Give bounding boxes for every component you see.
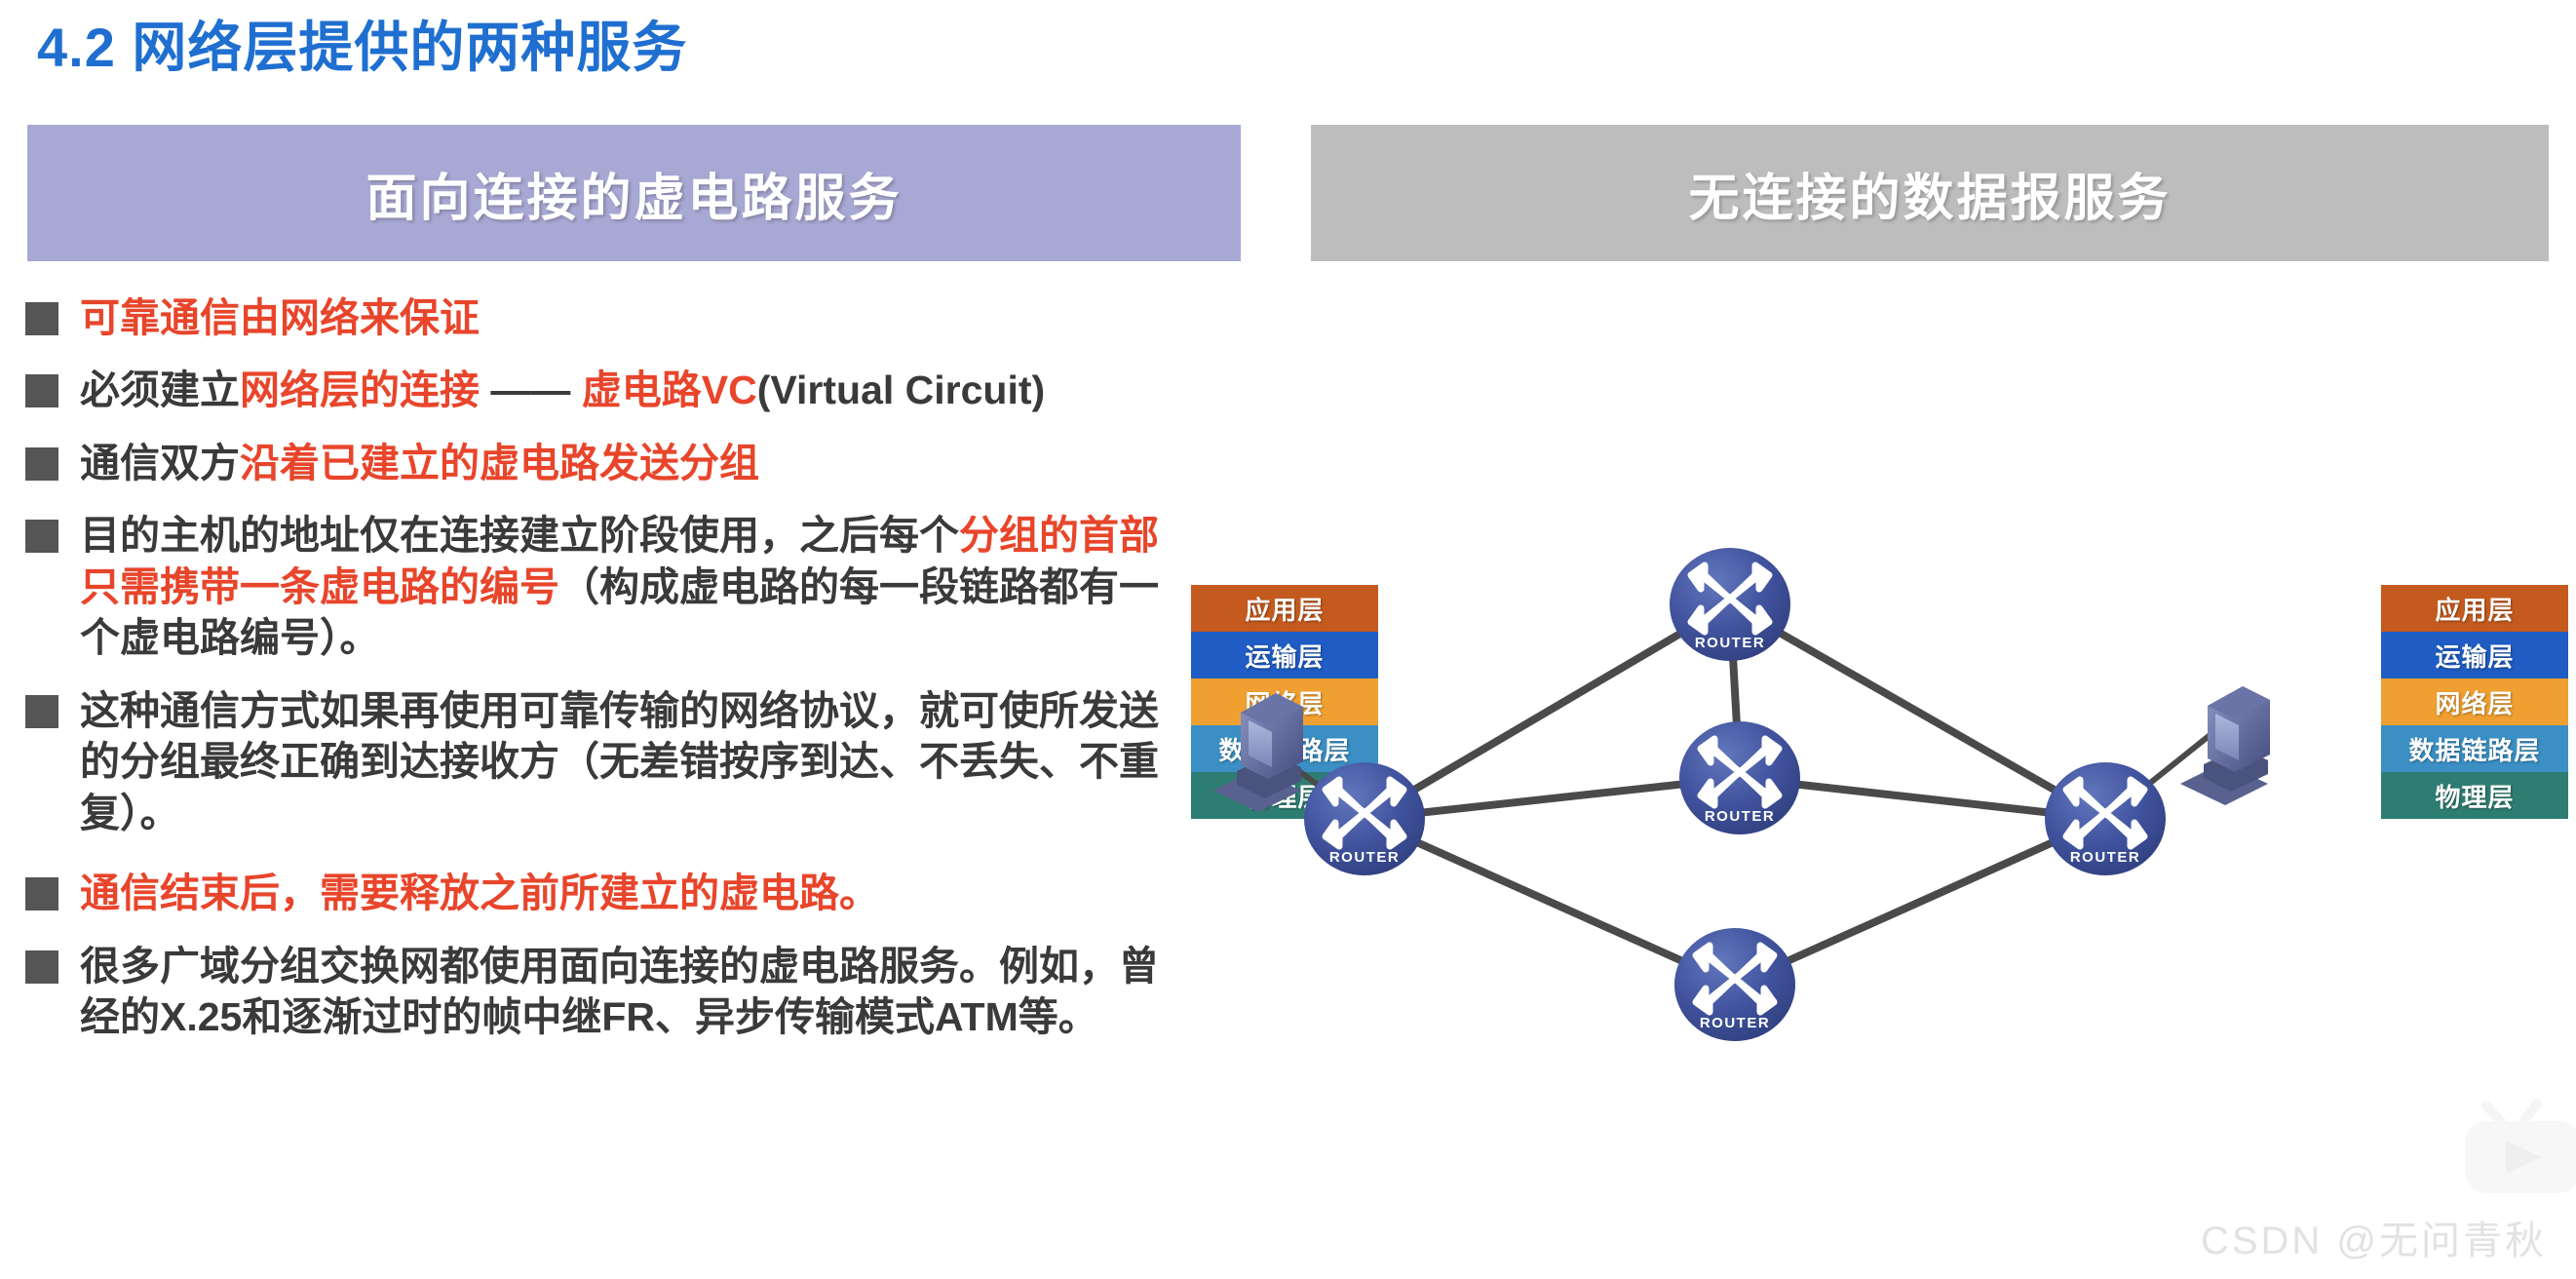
bullet-segment: 网络层的连接 xyxy=(240,368,480,412)
bullet-segment: 这种通信方式如果再使用可靠传输的网络协议，就可使所发送的分组最终正确到达接收方（… xyxy=(80,688,1159,835)
bullet-text: 必须建立网络层的连接 —— 虚电路VC(Virtual Circuit) xyxy=(80,365,1195,415)
host-computer-icon xyxy=(1213,693,1303,812)
page-title: 4.2 网络层提供的两种服务 xyxy=(37,4,687,83)
bullet-item-release-vc-after: 通信结束后，需要释放之前所建立的虚电路。 xyxy=(25,868,1195,918)
bullet-segment: 虚电路VC xyxy=(582,368,757,412)
bullet-item-send-along-vc: 通信双方沿着已建立的虚电路发送分组 xyxy=(25,438,1195,488)
bullet-text: 很多广域分组交换网都使用面向连接的虚电路服务。例如，曾经的X.25和逐渐过时的帧… xyxy=(80,941,1195,1043)
bullet-square-icon xyxy=(25,374,58,407)
router-node: ROUTER xyxy=(1304,762,1425,875)
network-topology-diagram: ROUTERROUTERROUTERROUTERROUTER xyxy=(1184,526,2568,1043)
bullet-item-wan-examples: 很多广域分组交换网都使用面向连接的虚电路服务。例如，曾经的X.25和逐渐过时的帧… xyxy=(25,941,1195,1043)
bullet-segment: 可靠通信由网络来保证 xyxy=(80,295,480,340)
bullet-item-address-only-at-setup: 目的主机的地址仅在连接建立阶段使用，之后每个分组的首部只需携带一条虚电路的编号（… xyxy=(25,510,1195,663)
router-label: ROUTER xyxy=(2070,849,2140,866)
bullet-item-reliable-comm: 可靠通信由网络来保证 xyxy=(25,292,1195,343)
router-label: ROUTER xyxy=(1705,808,1775,825)
router-label: ROUTER xyxy=(1329,849,1400,866)
router-node: ROUTER xyxy=(1670,548,1790,661)
csdn-watermark: CSDN @无问青秋 xyxy=(2201,1209,2547,1265)
bullet-segment: 通信结束后，需要释放之前所建立的虚电路。 xyxy=(80,871,879,915)
tv-play-icon xyxy=(2436,1088,2576,1205)
bullet-segment: 通信双方 xyxy=(80,441,240,485)
bullet-list: 可靠通信由网络来保证必须建立网络层的连接 —— 虚电路VC(Virtual Ci… xyxy=(25,292,1195,1072)
bullet-text: 目的主机的地址仅在连接建立阶段使用，之后每个分组的首部只需携带一条虚电路的编号（… xyxy=(80,510,1195,663)
bullet-segment: 必须建立 xyxy=(80,368,240,412)
router-label: ROUTER xyxy=(1695,635,1765,651)
bullet-text: 通信结束后，需要释放之前所建立的虚电路。 xyxy=(80,868,1195,918)
bullet-item-must-establish-vc: 必须建立网络层的连接 —— 虚电路VC(Virtual Circuit) xyxy=(25,365,1195,415)
topology-routers: ROUTERROUTERROUTERROUTERROUTER xyxy=(1304,548,2166,1041)
router-node: ROUTER xyxy=(2045,762,2166,875)
topology-link-7 xyxy=(1735,819,2105,985)
bullet-square-icon xyxy=(25,877,58,911)
topology-link-3 xyxy=(1365,819,1735,985)
router-node: ROUTER xyxy=(1679,721,1800,834)
section-banner-left-label: 面向连接的虚电路服务 xyxy=(365,157,902,230)
router-node: ROUTER xyxy=(1674,928,1795,1041)
bullet-text: 可靠通信由网络来保证 xyxy=(80,292,1195,343)
router-label: ROUTER xyxy=(1700,1015,1770,1031)
bullet-square-icon xyxy=(25,695,58,728)
section-banner-right-label: 无连接的数据报服务 xyxy=(1688,157,2171,230)
bullet-square-icon xyxy=(25,520,58,553)
bullet-square-icon xyxy=(25,302,58,335)
bullet-segment: (Virtual Circuit) xyxy=(757,368,1045,412)
bullet-item-reliable-transport-protocol: 这种通信方式如果再使用可靠传输的网络协议，就可使所发送的分组最终正确到达接收方（… xyxy=(25,685,1195,838)
bullet-segment: —— xyxy=(480,368,582,412)
bullet-segment: 沿着已建立的虚电路发送分组 xyxy=(240,441,759,485)
bullet-square-icon xyxy=(25,950,58,984)
bullet-segment: 目的主机的地址仅在连接建立阶段使用，之后每个 xyxy=(80,513,959,558)
network-topology-svg: ROUTERROUTERROUTERROUTERROUTER xyxy=(1184,526,2568,1043)
bullet-segment: 很多广域分组交换网都使用面向连接的虚电路服务。例如，曾经的X.25和逐渐过时的帧… xyxy=(80,944,1159,1039)
section-banner-virtual-circuit: 面向连接的虚电路服务 xyxy=(27,125,1241,261)
section-banner-datagram: 无连接的数据报服务 xyxy=(1311,125,2549,261)
bullet-text: 通信双方沿着已建立的虚电路发送分组 xyxy=(80,438,1195,488)
bullet-text: 这种通信方式如果再使用可靠传输的网络协议，就可使所发送的分组最终正确到达接收方（… xyxy=(80,685,1195,838)
bullet-square-icon xyxy=(25,447,58,481)
